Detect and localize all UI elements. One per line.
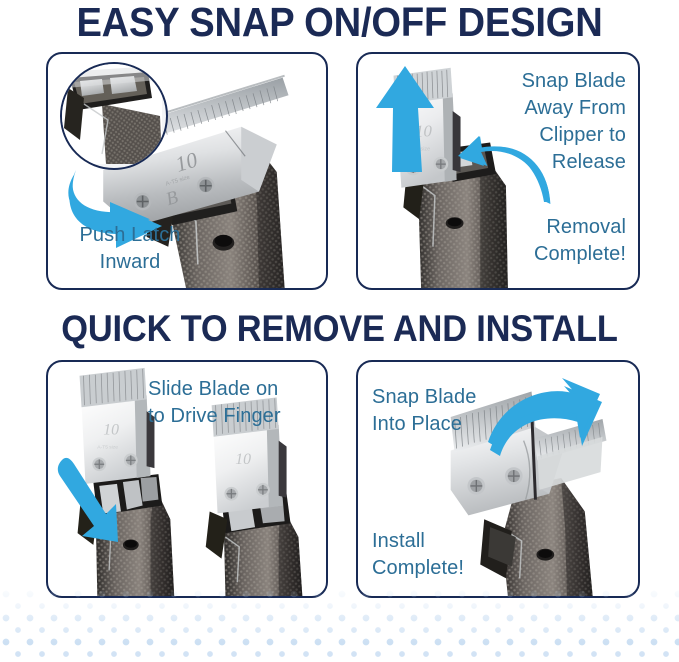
latch-detail-inset: [60, 62, 168, 170]
push-latch-panel: 10 A-T5 size B: [46, 52, 328, 290]
svg-text:A-T5 size: A-T5 size: [97, 445, 118, 451]
removal-complete-caption: Removal Complete!: [444, 214, 626, 268]
snap-blade-away-caption: Snap Blade Away From Clipper to Release: [444, 68, 626, 176]
snap-blade-away-panel: 10 A-T5 size Snap Blade Away From Clippe…: [356, 52, 640, 290]
svg-text:10: 10: [103, 422, 119, 439]
page-title-middle: QUICK TO REMOVE AND INSTALL: [24, 310, 655, 347]
svg-text:10: 10: [415, 122, 432, 141]
latch-detail-inset-photo: [62, 64, 162, 164]
slide-blade-panel: 10 A-T5 size: [46, 360, 328, 598]
infographic-root: EASY SNAP ON/OFF DESIGN QUICK TO REMOVE …: [0, 0, 679, 662]
snap-into-place-panel: Snap Blade Into Place Install Complete!: [356, 360, 640, 598]
svg-text:A-T5 size: A-T5 size: [407, 146, 430, 152]
push-latch-caption: Push Latch Inward: [54, 222, 206, 276]
install-complete-caption: Install Complete!: [372, 528, 532, 582]
slide-blade-caption: Slide Blade on to Drive Finger: [148, 376, 324, 430]
page-title-top: EASY SNAP ON/OFF DESIGN: [24, 2, 655, 43]
snap-into-place-caption: Snap Blade Into Place: [372, 384, 532, 438]
svg-text:10: 10: [235, 451, 251, 468]
